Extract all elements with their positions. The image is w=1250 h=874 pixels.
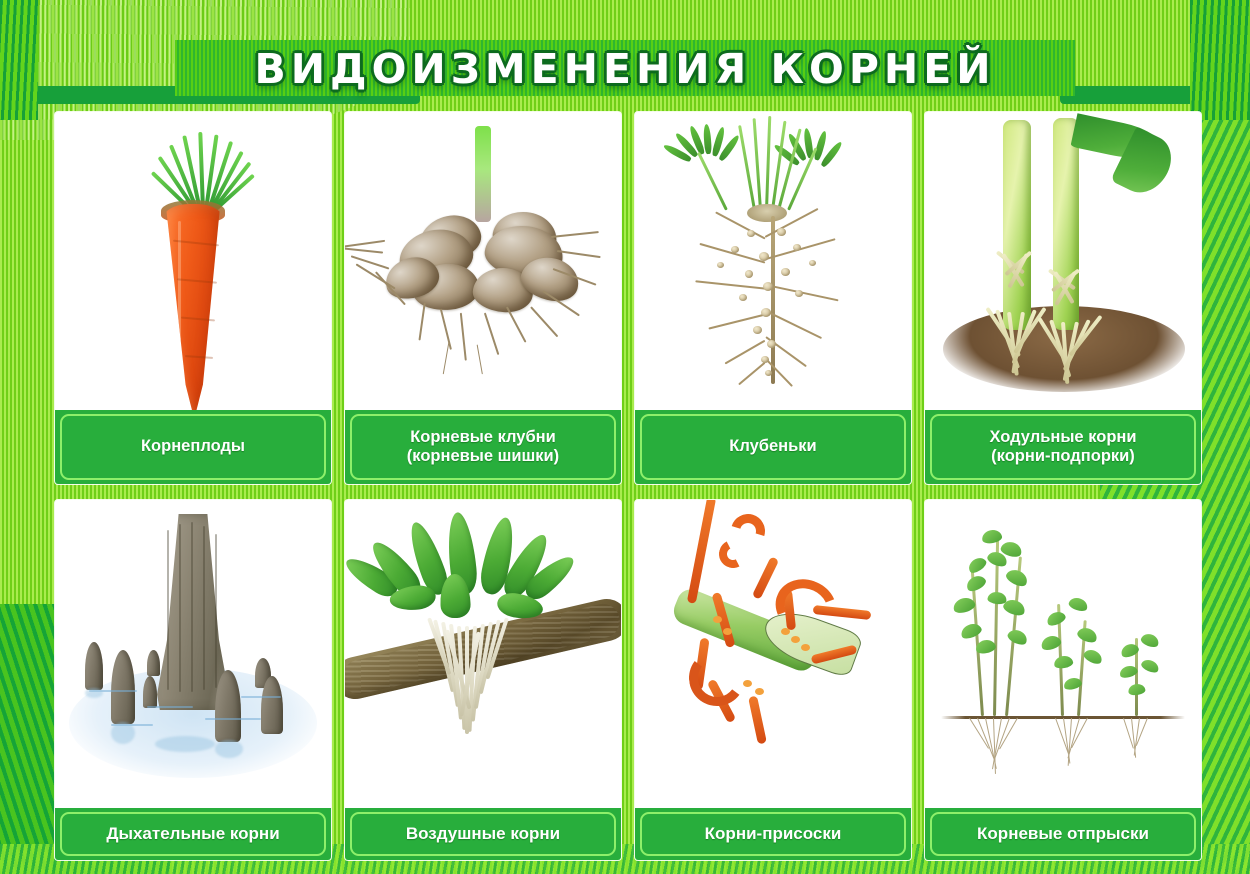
root-nodule [745,270,753,278]
root-nodule [753,326,762,334]
caption-dyhatelnye-korni: Дыхательные корни [55,808,331,860]
card-hodulnye-korni[interactable]: Ходульные корни (корни-подпорки) [925,112,1201,484]
root-nodule [777,228,786,236]
caption-text: Воздушные корни [406,824,560,844]
haustorium [781,628,790,635]
caption-korneplody: Корнеплоды [55,410,331,484]
caption-text: Ходульные корни (корни-подпорки) [989,428,1136,467]
card-kornevye-klubni[interactable]: Корневые клубни (корневые шишки) [345,112,621,484]
carrot-illustration [55,112,331,410]
carrot-body [162,204,224,410]
root-nodule [761,356,769,363]
root-suckers-illustration [925,500,1201,808]
haustorium [755,688,764,695]
root-nodule [765,370,772,376]
caption-kornevye-klubni: Корневые клубни (корневые шишки) [345,410,621,484]
caption-klubenki: Клубеньки [635,410,911,484]
figure-nodules [635,112,911,410]
cypress-pneumatophores-illustration [55,500,331,808]
poster-root: ВИДОИЗМЕНЕНИЯ КОРНЕЙ [0,0,1250,874]
card-grid: Корнеплоды [55,112,1203,860]
caption-text: Корни-присоски [705,824,842,844]
maize-stilt-roots-illustration [925,112,1201,410]
root-tubers-illustration [345,112,621,410]
card-vozdushnye-korni[interactable]: Воздушные корни [345,500,621,860]
page-title: ВИДОИЗМЕНЕНИЯ КОРНЕЙ [254,45,995,93]
root-nodule [761,308,771,317]
figure-root-tubers [345,112,621,410]
title-banner: ВИДОИЗМЕНЕНИЯ КОРНЕЙ [0,38,1250,100]
card-korneplody[interactable]: Корнеплоды [55,112,331,484]
haustorium [791,636,800,643]
root-nodule [781,268,790,276]
pneumatophore [147,650,160,676]
caption-text: Дыхательные корни [106,824,279,844]
figure-stilt-roots [925,112,1201,410]
card-kornevye-otpryski[interactable]: Корневые отпрыски [925,500,1201,860]
figure-carrot [55,112,331,410]
haustorium [743,680,752,687]
lupine-nodules-illustration [635,112,911,410]
pneumatophore [85,642,103,690]
dodder-haustoria-illustration [635,500,911,808]
pneumatophore [111,650,135,724]
caption-line-1: Корневые клубни [410,428,556,446]
caption-line-1: Ходульные корни [989,428,1136,446]
caption-kornevye-otpryski: Корневые отпрыски [925,808,1201,860]
tuber-stem [475,126,491,222]
caption-vozdushnye-korni: Воздушные корни [345,808,621,860]
root-crown [747,204,787,222]
root-nodule [717,262,724,268]
epiphyte-aerial-roots-illustration [345,500,621,808]
caption-line-2: (корни-подпорки) [991,447,1135,465]
root-nodule [731,246,739,253]
figure-root-suckers [925,500,1201,808]
caption-hodulnye-korni: Ходульные корни (корни-подпорки) [925,410,1201,484]
root-nodule [759,252,769,261]
pneumatophore [143,676,157,708]
caption-text: Корневые отпрыски [977,824,1149,844]
card-dyhatelnye-korni[interactable]: Дыхательные корни [55,500,331,860]
figure-pneumatophores [55,500,331,808]
root-nodule [809,260,816,266]
caption-text: Корнеплоды [141,437,245,456]
root-nodule [739,294,747,301]
root-nodule [767,340,776,348]
root-nodule [747,230,755,237]
caption-korni-prisoski: Корни-присоски [635,808,911,860]
dodder-loop [685,646,748,709]
root-nodule [763,282,773,291]
root-nodule [793,244,801,251]
haustorium [801,644,810,651]
caption-text: Клубеньки [729,437,816,456]
card-korni-prisoski[interactable]: Корни-присоски [635,500,911,860]
caption-text: Корневые клубни (корневые шишки) [407,428,559,467]
haustorium [723,628,732,635]
caption-line-2: (корневые шишки) [407,447,559,465]
haustorium [713,616,722,623]
figure-aerial-roots [345,500,621,808]
figure-haustoria [635,500,911,808]
root-nodule [795,290,803,297]
card-klubenki[interactable]: Клубеньки [635,112,911,484]
